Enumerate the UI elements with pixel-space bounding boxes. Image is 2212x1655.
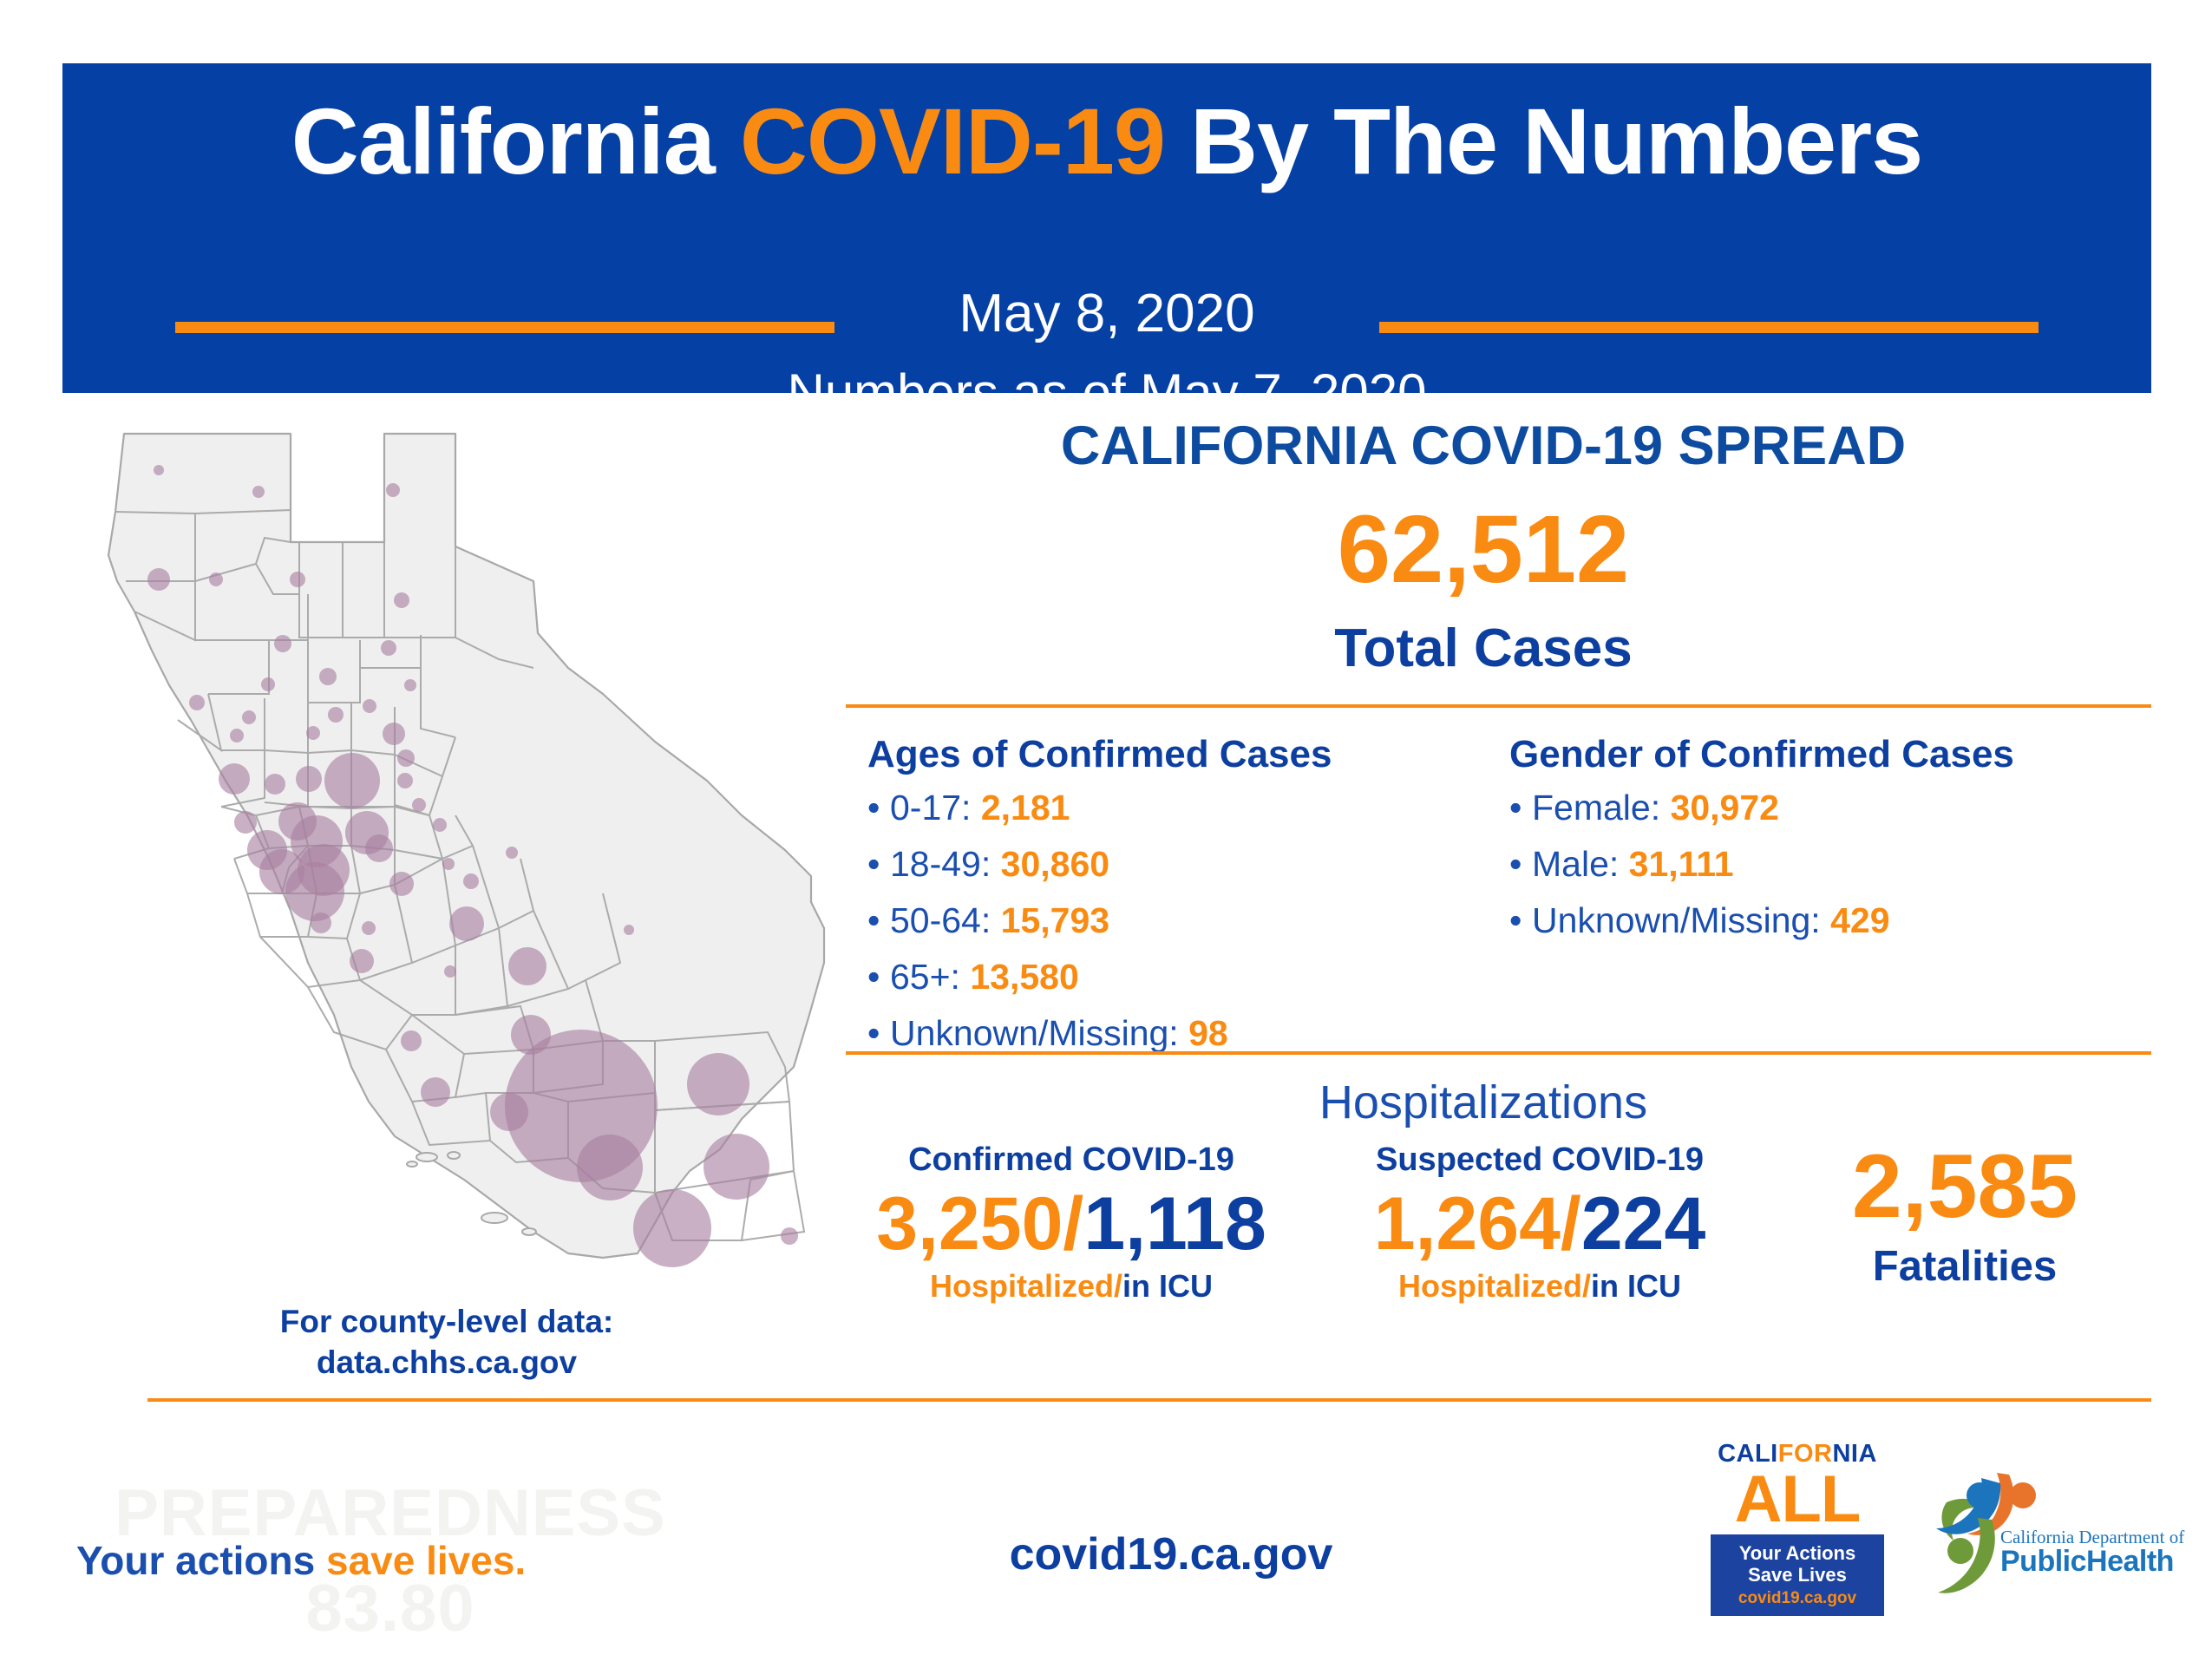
ages-item-1-value: 30,860 bbox=[1001, 844, 1109, 884]
california-county-bubble-map bbox=[48, 408, 846, 1284]
map-bubble bbox=[319, 668, 337, 685]
total-cases-number: 62,512 bbox=[833, 500, 2134, 600]
fatalities-number: 2,585 bbox=[1778, 1141, 2151, 1232]
ages-item-2: •50-64: 15,793 bbox=[867, 903, 1332, 939]
suspected-sub-icu: in ICU bbox=[1591, 1268, 1681, 1304]
fatalities-label: Fatalities bbox=[1778, 1242, 2151, 1291]
cdph-line2: PublicHealth bbox=[2000, 1547, 2184, 1578]
ages-heading: Ages of Confirmed Cases bbox=[867, 733, 1332, 776]
gender-item-1-value: 31,111 bbox=[1629, 844, 1734, 884]
map-caption: For county-level data: data.chhs.ca.gov bbox=[48, 1301, 846, 1384]
bullet-icon: • bbox=[1509, 903, 1532, 939]
map-bubble bbox=[394, 592, 409, 608]
map-bubble bbox=[463, 873, 479, 889]
map-bubble bbox=[508, 947, 546, 985]
map-bubble bbox=[363, 699, 376, 713]
cdph-line1: California Department of bbox=[2000, 1528, 2184, 1547]
confirmed-sublabel: Hospitalized/in ICU bbox=[837, 1268, 1306, 1305]
map-bubble bbox=[285, 862, 344, 921]
bullet-icon: • bbox=[867, 1016, 890, 1051]
confirmed-sub-separator: / bbox=[1114, 1268, 1122, 1304]
section-divider-3 bbox=[147, 1398, 2151, 1402]
map-bubble bbox=[449, 906, 484, 941]
ages-item-2-value: 15,793 bbox=[1001, 900, 1109, 940]
bullet-icon: • bbox=[1509, 847, 1532, 882]
gender-item-2-label: Unknown/Missing: bbox=[1532, 900, 1821, 940]
suspected-sub-separator: / bbox=[1582, 1268, 1591, 1304]
map-bubble bbox=[401, 1030, 422, 1051]
map-bubble bbox=[397, 749, 415, 767]
map-bubble bbox=[624, 925, 634, 935]
ages-item-0: •0-17: 2,181 bbox=[867, 790, 1332, 826]
map-bubble bbox=[444, 965, 456, 978]
ca-all-box-line1: Your Actions bbox=[1716, 1543, 1879, 1565]
map-bubble bbox=[633, 1189, 711, 1267]
gender-item-0-label: Female: bbox=[1532, 788, 1660, 827]
gender-item-1-label: Male: bbox=[1532, 844, 1619, 884]
map-bubble bbox=[781, 1227, 798, 1245]
ca-all-callout-box: Your Actions Save Lives covid19.ca.gov bbox=[1711, 1534, 1884, 1616]
total-cases-label: Total Cases bbox=[833, 618, 2134, 679]
map-bubble bbox=[147, 568, 170, 591]
map-bubble bbox=[242, 710, 256, 724]
page-title: California COVID-19 By The Numbers bbox=[62, 95, 2151, 188]
hospitalizations-confirmed-column: Confirmed COVID-19 3,250/1,118 Hospitali… bbox=[837, 1143, 1306, 1305]
map-bubble bbox=[274, 635, 291, 652]
map-bubble bbox=[234, 811, 257, 834]
ages-item-1: •18-49: 30,860 bbox=[867, 847, 1332, 882]
map-bubble bbox=[265, 774, 285, 795]
suspected-numbers: 1,264/224 bbox=[1306, 1185, 1774, 1263]
map-bubble bbox=[421, 1077, 450, 1107]
map-bubble bbox=[328, 707, 344, 723]
map-bubble bbox=[383, 723, 405, 745]
confirmed-separator: / bbox=[1063, 1182, 1083, 1266]
title-pre: California bbox=[291, 88, 740, 193]
ages-item-1-label: 18-49: bbox=[890, 844, 991, 884]
ages-of-confirmed-cases-block: Ages of Confirmed Cases •0-17: 2,181 •18… bbox=[867, 733, 1332, 1072]
map-bubble bbox=[433, 818, 447, 832]
gender-of-confirmed-cases-block: Gender of Confirmed Cases •Female: 30,97… bbox=[1509, 733, 2014, 959]
hospitalizations-title: Hospitalizations bbox=[833, 1076, 2134, 1129]
bullet-icon: • bbox=[867, 847, 890, 882]
map-bubble bbox=[362, 921, 376, 935]
fatalities-block: 2,585 Fatalities bbox=[1778, 1141, 2151, 1291]
tagline-orange: save lives. bbox=[326, 1538, 526, 1583]
hospitalizations-suspected-column: Suspected COVID-19 1,264/224 Hospitalize… bbox=[1306, 1143, 1774, 1305]
map-caption-line1: For county-level data: bbox=[48, 1301, 846, 1342]
spread-section-title: CALIFORNIA COVID-19 SPREAD bbox=[833, 415, 2134, 477]
bullet-icon: • bbox=[867, 790, 890, 826]
map-bubble bbox=[324, 753, 380, 808]
title-post: By The Numbers bbox=[1165, 88, 1922, 193]
cdph-wordmark: California Department of PublicHealth bbox=[2000, 1528, 2184, 1578]
suspected-caption: Suspected COVID-19 bbox=[1306, 1143, 1774, 1176]
cdph-logo: California Department of PublicHealth bbox=[1927, 1464, 2160, 1620]
ages-item-4: •Unknown/Missing: 98 bbox=[867, 1016, 1332, 1051]
bullet-icon: • bbox=[1509, 790, 1532, 826]
ages-item-2-label: 50-64: bbox=[890, 900, 991, 940]
map-bubble bbox=[311, 913, 331, 933]
confirmed-icu-value: 1,118 bbox=[1083, 1182, 1266, 1266]
section-divider-1 bbox=[846, 704, 2151, 708]
section-divider-2 bbox=[846, 1051, 2151, 1055]
map-bubble bbox=[687, 1053, 749, 1115]
map-bubble bbox=[230, 729, 244, 742]
map-bubble bbox=[209, 572, 223, 586]
map-bubble bbox=[397, 773, 413, 788]
title-highlight: COVID-19 bbox=[740, 88, 1165, 193]
ages-item-0-label: 0-17: bbox=[890, 788, 971, 827]
ca-all-box-line2: Save Lives bbox=[1716, 1565, 1879, 1586]
map-bubble bbox=[404, 679, 416, 691]
gender-item-0: •Female: 30,972 bbox=[1509, 790, 2014, 826]
confirmed-sub-icu: in ICU bbox=[1122, 1268, 1213, 1304]
footer-url[interactable]: covid19.ca.gov bbox=[867, 1528, 1475, 1580]
ages-item-3-label: 65+: bbox=[890, 957, 960, 997]
tagline-blue: Your actions bbox=[76, 1538, 326, 1583]
ages-item-3-value: 13,580 bbox=[970, 957, 1078, 997]
confirmed-hospitalized-value: 3,250 bbox=[876, 1182, 1063, 1266]
bullet-icon: • bbox=[867, 903, 890, 939]
gender-heading: Gender of Confirmed Cases bbox=[1509, 733, 2014, 776]
ages-item-4-value: 98 bbox=[1188, 1013, 1228, 1053]
map-bubble bbox=[290, 572, 305, 587]
map-bubble bbox=[704, 1134, 769, 1200]
ages-item-4-label: Unknown/Missing: bbox=[890, 1013, 1179, 1053]
map-bubble bbox=[261, 677, 275, 691]
map-bubble bbox=[577, 1135, 643, 1200]
map-bubble bbox=[442, 858, 455, 870]
gender-item-1: •Male: 31,111 bbox=[1509, 847, 2014, 882]
ca-all-headline: ALL bbox=[1711, 1469, 1884, 1531]
suspected-separator: / bbox=[1561, 1182, 1581, 1266]
map-bubble bbox=[412, 798, 426, 812]
data-as-of-date: Numbers as of May 7, 2020 bbox=[62, 367, 2151, 393]
confirmed-numbers: 3,250/1,118 bbox=[837, 1185, 1306, 1263]
header-banner: California COVID-19 By The Numbers May 8… bbox=[62, 63, 2151, 393]
map-bubble bbox=[306, 726, 320, 740]
suspected-hospitalized-value: 1,264 bbox=[1374, 1182, 1561, 1266]
map-bubble bbox=[296, 766, 322, 792]
map-bubble bbox=[365, 834, 393, 862]
map-caption-line2[interactable]: data.chhs.ca.gov bbox=[48, 1342, 846, 1383]
tagline: Your actions save lives. bbox=[76, 1537, 526, 1584]
suspected-icu-value: 224 bbox=[1581, 1182, 1706, 1266]
map-bubble bbox=[189, 695, 205, 710]
ages-item-3: •65+: 13,580 bbox=[867, 959, 1332, 995]
infographic-page: California COVID-19 By The Numbers May 8… bbox=[0, 0, 2212, 1655]
map-bubble bbox=[252, 486, 265, 498]
ages-item-0-value: 2,181 bbox=[981, 788, 1070, 827]
gender-item-0-value: 30,972 bbox=[1671, 788, 1779, 827]
gender-item-2: •Unknown/Missing: 429 bbox=[1509, 903, 2014, 939]
confirmed-sub-hospitalized: Hospitalized bbox=[930, 1268, 1114, 1304]
map-bubble bbox=[381, 640, 396, 656]
map-bubble bbox=[506, 847, 518, 859]
confirmed-caption: Confirmed COVID-19 bbox=[837, 1143, 1306, 1176]
gender-item-2-value: 429 bbox=[1830, 900, 1889, 940]
bullet-icon: • bbox=[867, 959, 890, 995]
ca-all-box-url: covid19.ca.gov bbox=[1716, 1589, 1879, 1608]
map-bubble bbox=[350, 949, 374, 973]
map-bubble bbox=[219, 763, 250, 795]
map-bubble bbox=[389, 872, 414, 896]
suspected-sublabel: Hospitalized/in ICU bbox=[1306, 1268, 1774, 1305]
publication-date: May 8, 2020 bbox=[62, 287, 2151, 341]
map-bubble bbox=[386, 483, 400, 497]
suspected-sub-hospitalized: Hospitalized bbox=[1398, 1268, 1582, 1304]
map-bubble bbox=[154, 465, 164, 475]
california-all-logo: CALIFORNIA ALL Your Actions Save Lives c… bbox=[1711, 1442, 1884, 1616]
